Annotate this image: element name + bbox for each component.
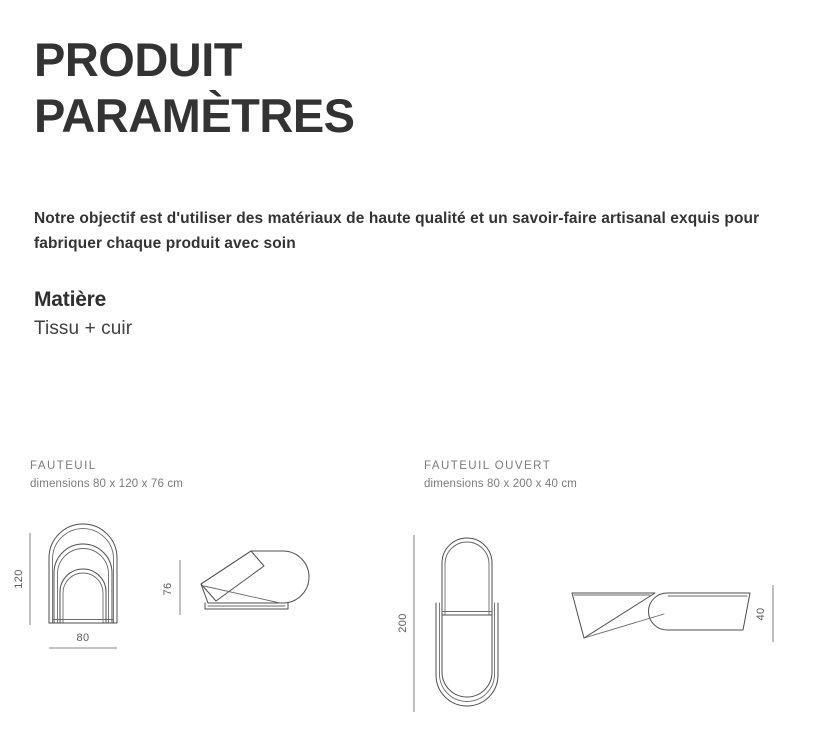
- dimension-label-200: 200: [397, 613, 409, 633]
- dimension-label-120: 120: [13, 569, 25, 589]
- dimension-label-40: 40: [755, 607, 767, 620]
- dimension-label-76: 76: [162, 582, 174, 595]
- drawing-group-fauteuil: FAUTEUIL dimensions 80 x 120 x 76 cm: [30, 460, 183, 490]
- material-spec: Matière Tissu + cuir: [34, 288, 132, 340]
- drawing-dimensions-fauteuil: dimensions 80 x 120 x 76 cm: [30, 478, 183, 490]
- page-title: PRODUIT PARAMÈTRES: [34, 32, 794, 145]
- drawing-svg-fauteuil-ouvert: 200 40: [402, 490, 802, 720]
- drawing-dimensions-fauteuil-ouvert: dimensions 80 x 200 x 40 cm: [424, 478, 577, 490]
- fauteuil-front-view: [49, 524, 117, 623]
- fauteuil-ouvert-top-view: [436, 538, 498, 706]
- page-title-line-2: PARAMÈTRES: [34, 88, 794, 144]
- dimension-label-80: 80: [76, 632, 89, 644]
- dimension-length-200: 200: [397, 535, 414, 712]
- drawing-title-fauteuil-ouvert: FAUTEUIL OUVERT: [424, 460, 577, 472]
- fauteuil-ouvert-side-view: [572, 593, 750, 638]
- drawing-title-fauteuil: FAUTEUIL: [30, 460, 183, 472]
- material-label: Matière: [34, 288, 132, 312]
- dimension-width-80: 80: [49, 632, 117, 648]
- dimension-height-40: 40: [755, 585, 773, 642]
- page-title-line-1: PRODUIT: [34, 32, 794, 88]
- dimension-height-76: 76: [162, 560, 180, 615]
- fauteuil-side-view: [201, 551, 309, 609]
- drawing-group-fauteuil-ouvert: FAUTEUIL OUVERT dimensions 80 x 200 x 40…: [424, 460, 577, 490]
- material-value: Tissu + cuir: [34, 318, 132, 340]
- product-parameters-page: PRODUIT PARAMÈTRES Notre objectif est d'…: [0, 0, 826, 744]
- drawing-svg-fauteuil: 120 80: [8, 490, 338, 690]
- dimension-height-120: 120: [13, 533, 30, 625]
- intro-paragraph: Notre objectif est d'utiliser des matéri…: [34, 206, 824, 257]
